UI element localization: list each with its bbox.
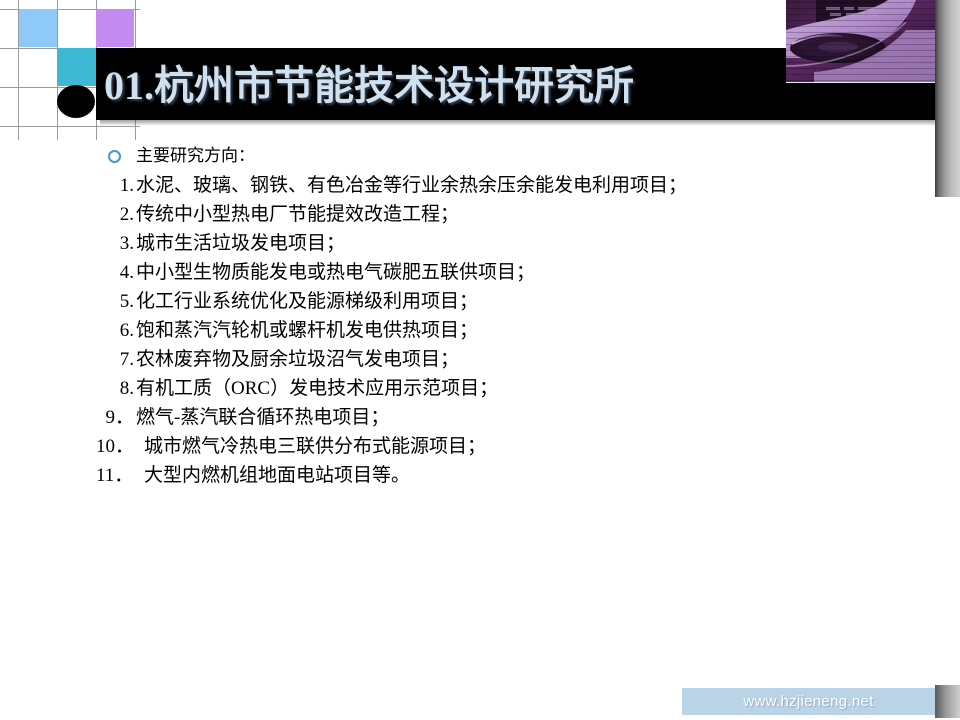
list-item-index: 5. <box>104 287 134 316</box>
list-item-text: 中小型生物质能发电或热电气碳肥五联供项目； <box>136 262 535 283</box>
list-item-index: 10． <box>96 432 138 461</box>
list-item: 1. 水泥、玻璃、钢铁、有色冶金等行业余热余压余能发电利用项目； <box>0 171 900 200</box>
list-item: 6. 饱和蒸汽汽轮机或螺杆机发电供热项目； <box>0 316 900 345</box>
list-item-text: 传统中小型热电厂节能提效改造工程； <box>136 204 459 225</box>
research-direction-list: 1. 水泥、玻璃、钢铁、有色冶金等行业余热余压余能发电利用项目； 2. 传统中小… <box>0 171 900 490</box>
list-item-text: 大型内燃机组地面电站项目等。 <box>144 465 410 486</box>
list-item: 5. 化工行业系统优化及能源梯级利用项目； <box>0 287 900 316</box>
title-band-shadow <box>100 120 939 126</box>
grid-line-horizontal <box>0 126 140 127</box>
lead-label: 主要研究方向： <box>136 140 255 171</box>
list-item-text: 水泥、玻璃、钢铁、有色冶金等行业余热余压余能发电利用项目； <box>136 175 687 196</box>
list-item: 2. 传统中小型热电厂节能提效改造工程； <box>0 200 900 229</box>
list-item-index: 3. <box>104 229 134 258</box>
slide-body: 主要研究方向： 1. 水泥、玻璃、钢铁、有色冶金等行业余热余压余能发电利用项目；… <box>0 140 900 490</box>
list-item: 3. 城市生活垃圾发电项目； <box>0 229 900 258</box>
list-item: 10． 城市燃气冷热电三联供分布式能源项目； <box>0 432 900 461</box>
list-item: 8. 有机工质（ORC）发电技术应用示范项目； <box>0 374 900 403</box>
list-item-index: 8. <box>104 374 134 403</box>
list-item-index: 1. <box>104 171 134 200</box>
list-item-index: 9． <box>104 403 134 432</box>
decor-square-purple <box>96 9 134 47</box>
list-item: 11． 大型内燃机组地面电站项目等。 <box>0 461 900 490</box>
list-item: 7. 农林废弃物及厨余垃圾沼气发电项目； <box>0 345 900 374</box>
list-item-text: 城市燃气冷热电三联供分布式能源项目； <box>144 436 486 457</box>
list-item-text: 农林废弃物及厨余垃圾沼气发电项目； <box>136 349 459 370</box>
decor-circle-black <box>57 85 95 118</box>
footer-url-text: www.hzjieneng.net <box>682 688 935 715</box>
slide-right-bevel <box>935 0 960 197</box>
list-item: 4. 中小型生物质能发电或热电气碳肥五联供项目； <box>0 258 900 287</box>
list-item-index: 11． <box>96 461 138 490</box>
list-item-text: 有机工质（ORC）发电技术应用示范项目； <box>136 378 498 399</box>
list-item-index: 7. <box>104 345 134 374</box>
decor-square-teal <box>57 48 96 86</box>
list-item-text: 城市生活垃圾发电项目； <box>136 233 345 254</box>
footer-right-bevel <box>935 685 960 718</box>
list-item-text: 燃气-蒸汽联合循环热电项目； <box>136 407 389 428</box>
footer-url-bar: www.hzjieneng.net <box>682 688 935 715</box>
list-item-text: 化工行业系统优化及能源梯级利用项目； <box>136 291 478 312</box>
list-item-index: 6. <box>104 316 134 345</box>
list-item-index: 4. <box>104 258 134 287</box>
decor-square-light-blue <box>19 9 57 47</box>
presentation-slide: 01.杭州市节能技术设计研究所 <box>0 0 960 720</box>
ring-bullet-icon <box>108 150 121 163</box>
abstract-purple-disc-image <box>786 0 935 83</box>
lead-row: 主要研究方向： <box>0 140 900 171</box>
list-item-text: 饱和蒸汽汽轮机或螺杆机发电供热项目； <box>136 320 478 341</box>
list-item-index: 2. <box>104 200 134 229</box>
list-item: 9． 燃气-蒸汽联合循环热电项目； <box>0 403 900 432</box>
